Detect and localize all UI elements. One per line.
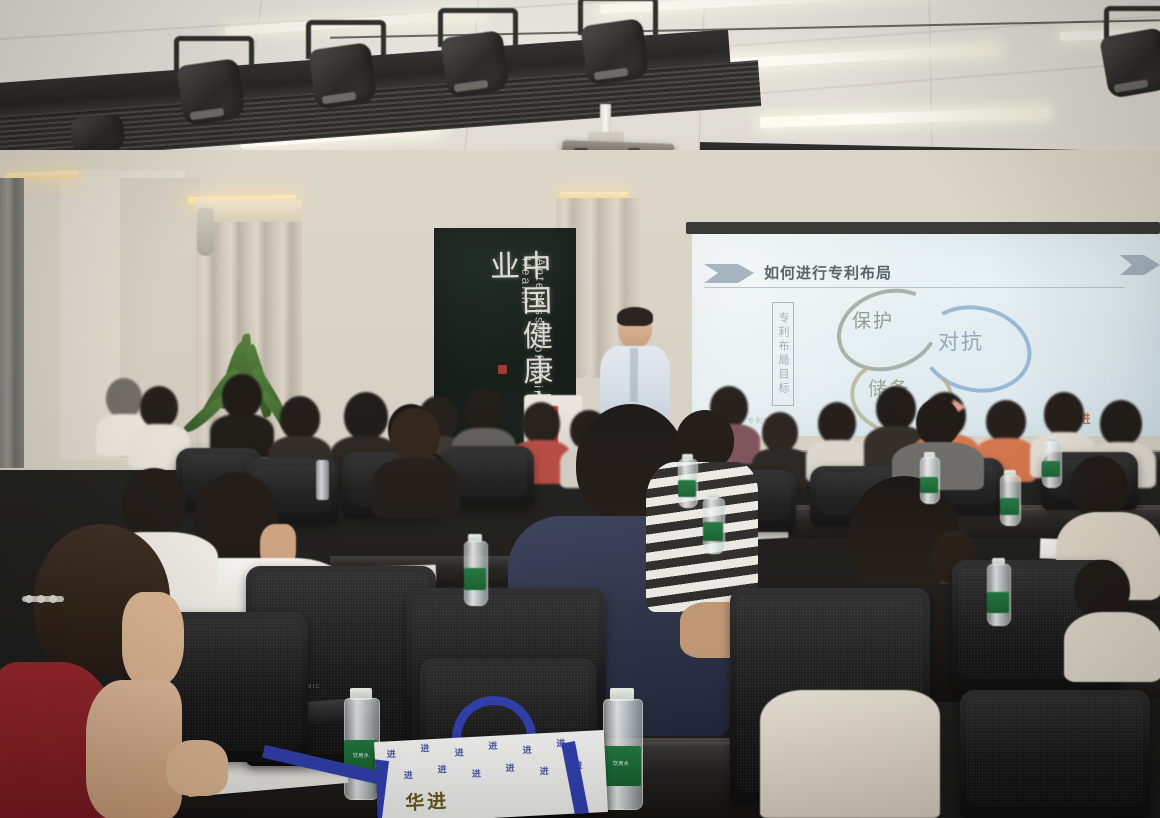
water-bottle[interactable]: [676, 454, 698, 506]
hair-clip-icon: [22, 588, 66, 610]
attendee-face: [122, 592, 184, 688]
attendee: [210, 374, 272, 456]
water-bottle[interactable]: [984, 558, 1012, 624]
slide-title-underline: [704, 287, 1124, 288]
seminar-room-photo: 中国健康产业 Antecessor of China Health 如何进行专利…: [0, 0, 1160, 818]
water-bottle[interactable]: [460, 534, 490, 604]
water-bottle[interactable]: [998, 470, 1022, 524]
slide-ring-label-oppose: 对抗: [938, 326, 984, 356]
slide-vertical-label: 专利布局目标: [772, 302, 794, 406]
attendee-shoulder: [86, 680, 182, 818]
chevron-right-icon-right: [1120, 252, 1160, 278]
stage-spotlight: [432, 8, 518, 100]
attendee: [760, 690, 940, 818]
stage-spotlight: [572, 0, 658, 88]
tote-bag[interactable]: 进 进 进 进 进 进 进 进 进 进 进 进 华进: [374, 730, 608, 818]
attendee-red-top: [0, 534, 240, 818]
projection-screen-frame: [686, 222, 1160, 234]
window-curtain-left: [0, 178, 24, 468]
attendee: [372, 408, 458, 516]
tote-bag-logo-text: 华进: [404, 786, 449, 815]
water-bottle[interactable]: [1040, 436, 1062, 486]
attendee: [1064, 560, 1160, 680]
attendee-hand: [166, 740, 228, 796]
stage-spotlight: [300, 20, 386, 112]
slide-title: 如何进行专利布局: [764, 262, 892, 283]
banner-seal-icon: [498, 365, 507, 374]
speaker-hair: [617, 307, 653, 326]
office-chair[interactable]: [960, 690, 1150, 818]
wall-speaker: [197, 208, 214, 256]
stage-spotlight: [168, 36, 254, 128]
water-bottle[interactable]: [918, 452, 940, 502]
water-bottle[interactable]: [700, 492, 726, 552]
chevron-right-icon: [704, 260, 762, 286]
stage-spotlight: [1098, 6, 1160, 98]
slide-ring-label-protect: 保护: [852, 306, 894, 333]
